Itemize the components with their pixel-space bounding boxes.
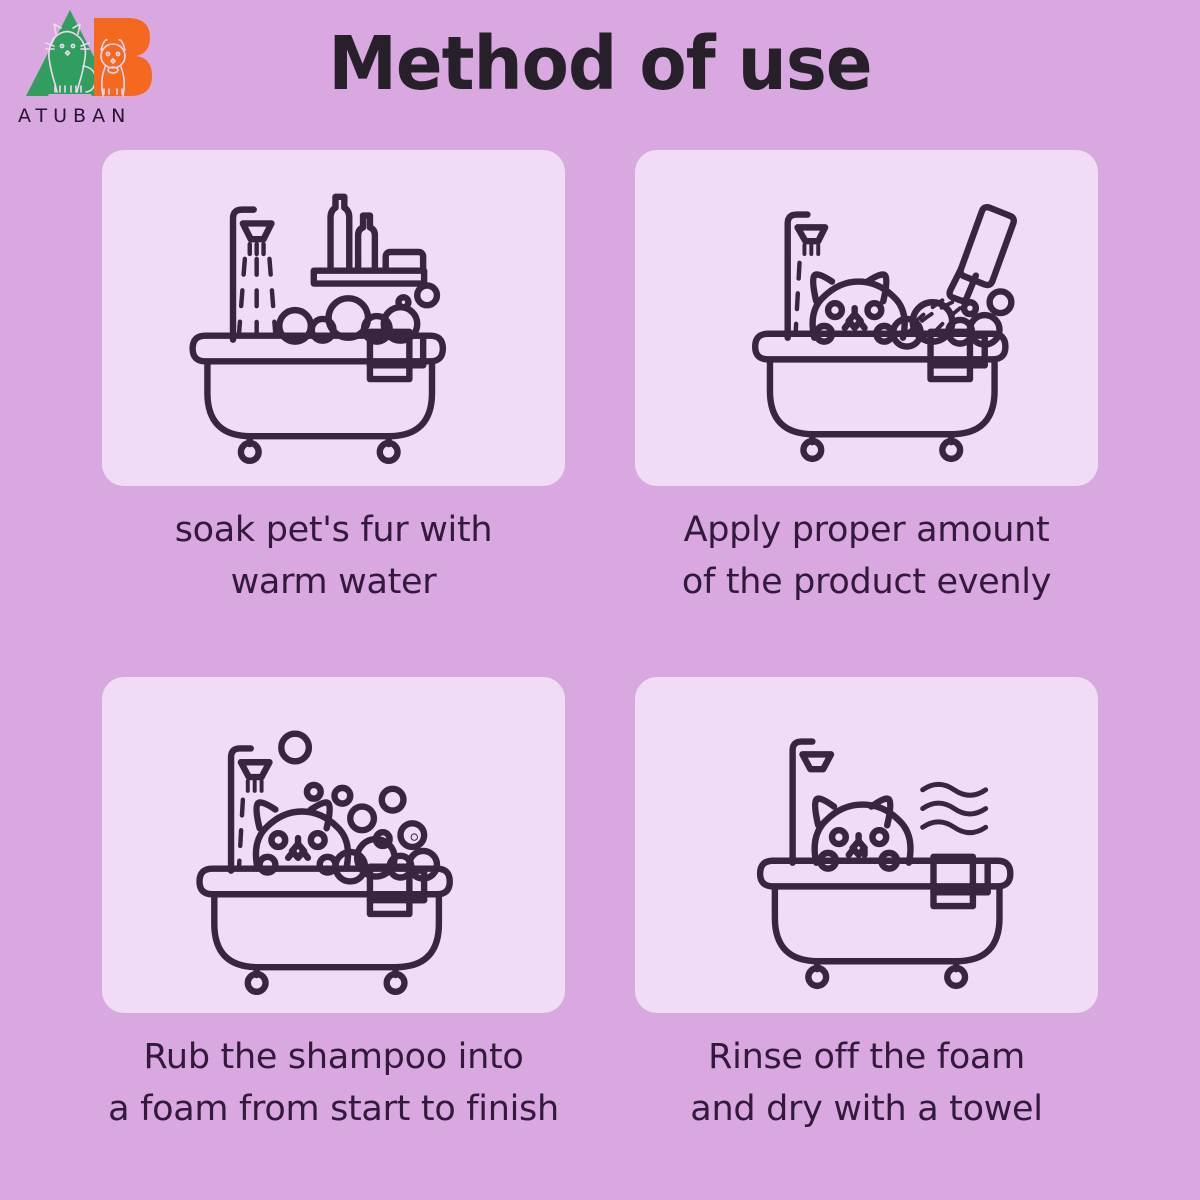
step-3-illustration-card [102, 677, 565, 1013]
step-1-illustration-card [102, 150, 565, 486]
step-1: soak pet's fur with warm water [102, 150, 565, 663]
step-4: Rinse off the foam and dry with a towel [635, 677, 1098, 1190]
step-1-caption: soak pet's fur with warm water [175, 504, 493, 608]
cat-in-bathtub-with-foam-bubbles-icon [102, 677, 565, 1013]
step-3-caption: Rub the shampoo into a foam from start t… [108, 1031, 559, 1135]
step-2-caption: Apply proper amount of the product evenl… [682, 504, 1051, 608]
cat-in-bathtub-with-product-bottle-icon [635, 150, 1098, 486]
page-title: Method of use [42, 24, 1158, 104]
step-3: Rub the shampoo into a foam from start t… [102, 677, 565, 1190]
steps-grid: soak pet's fur with warm water [0, 150, 1200, 1190]
step-2-illustration-card [635, 150, 1098, 486]
air-waves-icon [923, 784, 986, 832]
step-2: Apply proper amount of the product evenl… [635, 150, 1098, 663]
step-4-caption: Rinse off the foam and dry with a towel [690, 1031, 1042, 1135]
brand-name: ATUBAN [18, 105, 131, 127]
step-4-illustration-card [635, 677, 1098, 1013]
bathtub-with-shower-and-toiletries-icon [102, 150, 565, 486]
cat-in-bathtub-drying-icon [635, 677, 1098, 1013]
